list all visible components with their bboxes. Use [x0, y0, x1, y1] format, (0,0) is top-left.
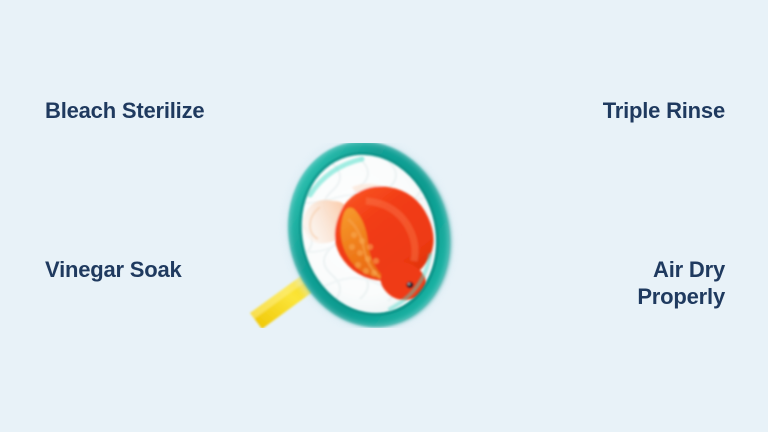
label-bleach-sterilize: Bleach Sterilize [45, 97, 204, 124]
label-air-dry-properly: Air Dry Properly [637, 256, 725, 310]
slide-canvas: Bleach Sterilize Triple Rinse Vinegar So… [0, 0, 768, 432]
fish-eye-icon [406, 282, 413, 288]
fish-net-photo [248, 143, 492, 328]
label-triple-rinse: Triple Rinse [603, 97, 725, 124]
label-vinegar-soak: Vinegar Soak [45, 256, 182, 283]
